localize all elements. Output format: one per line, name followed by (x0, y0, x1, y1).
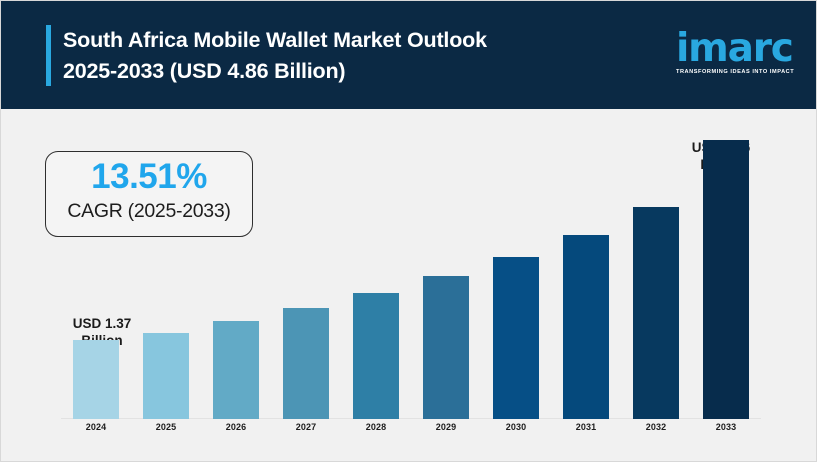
page-title: South Africa Mobile Wallet Market Outloo… (63, 25, 623, 87)
x-tick-2033: 2033 (691, 422, 761, 432)
x-tick-2026: 2026 (201, 422, 271, 432)
bar-slot: 2027 (271, 109, 341, 419)
bar-chart: USD 1.37 Billion USD 4.86 Billion 202420… (1, 109, 817, 462)
bar-slot: 2032 (621, 109, 691, 419)
logo-wordmark: imarc (676, 29, 792, 68)
bar-slot: 2033 (691, 109, 761, 419)
header-banner: South Africa Mobile Wallet Market Outloo… (1, 1, 817, 109)
bar-slot: 2026 (201, 109, 271, 419)
plot-area: 2024202520262027202820292030203120322033 (61, 109, 761, 419)
x-tick-2030: 2030 (481, 422, 551, 432)
bar-2028[interactable] (353, 293, 399, 419)
bar-slot: 2024 (61, 109, 131, 419)
bar-2030[interactable] (493, 257, 539, 419)
x-tick-2024: 2024 (61, 422, 131, 432)
bar-2033[interactable] (703, 140, 749, 419)
x-tick-2032: 2032 (621, 422, 691, 432)
bar-2032[interactable] (633, 207, 679, 419)
bar-2026[interactable] (213, 321, 259, 419)
x-tick-2031: 2031 (551, 422, 621, 432)
bar-2027[interactable] (283, 308, 329, 419)
bar-2024[interactable] (73, 340, 119, 419)
chart-infographic: South Africa Mobile Wallet Market Outloo… (0, 0, 817, 462)
bar-2031[interactable] (563, 235, 609, 419)
bar-2029[interactable] (423, 276, 469, 419)
bar-slot: 2025 (131, 109, 201, 419)
bar-2025[interactable] (143, 333, 189, 419)
bar-slot: 2028 (341, 109, 411, 419)
page-title-line2: 2025-2033 (USD 4.86 Billion) (63, 56, 623, 87)
x-tick-2029: 2029 (411, 422, 481, 432)
bar-slot: 2031 (551, 109, 621, 419)
x-tick-2027: 2027 (271, 422, 341, 432)
bar-slot: 2029 (411, 109, 481, 419)
x-tick-2025: 2025 (131, 422, 201, 432)
header-accent-bar (46, 25, 51, 86)
logo-tagline: TRANSFORMING IDEAS INTO IMPACT (676, 69, 792, 75)
page-title-line1: South Africa Mobile Wallet Market Outloo… (63, 28, 487, 52)
x-tick-2028: 2028 (341, 422, 411, 432)
bar-slot: 2030 (481, 109, 551, 419)
imarc-logo: imarc TRANSFORMING IDEAS INTO IMPACT (676, 29, 792, 82)
